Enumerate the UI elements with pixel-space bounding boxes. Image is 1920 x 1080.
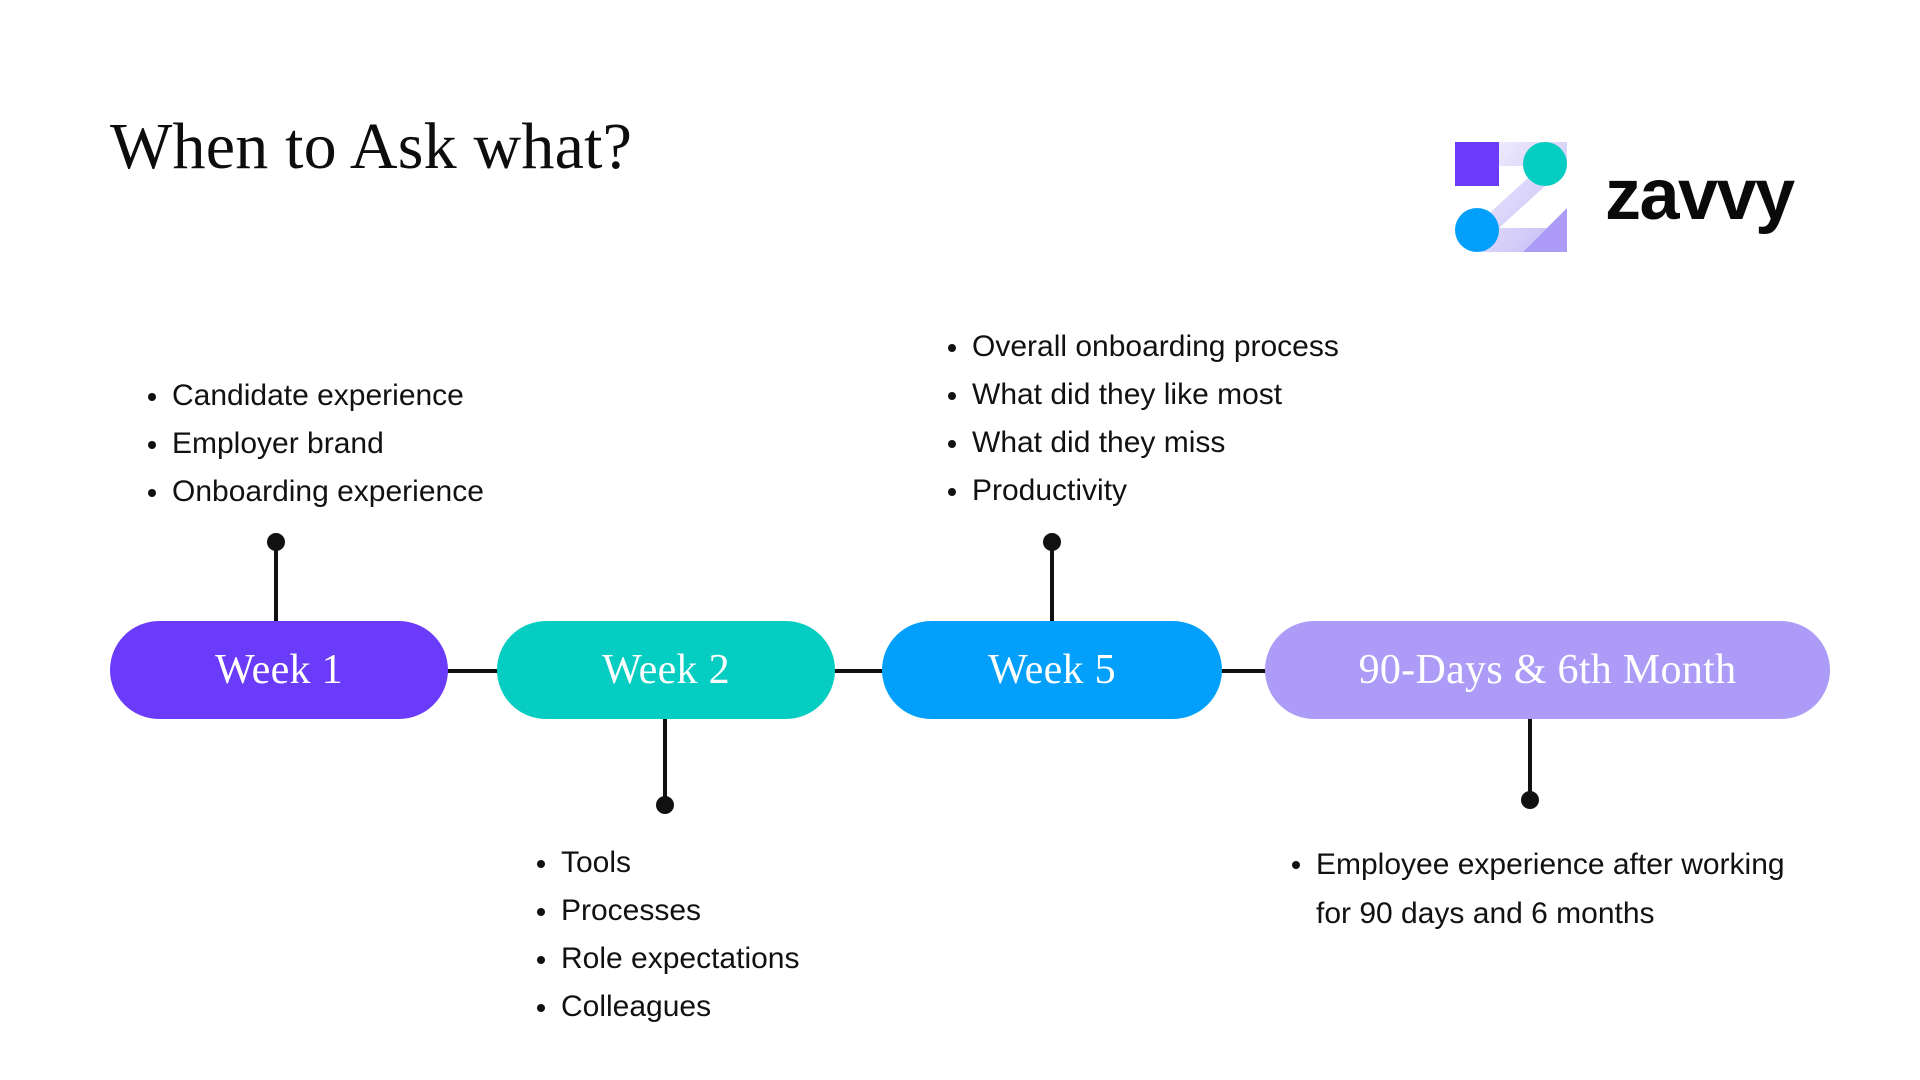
connector-week1-week2 xyxy=(446,669,499,673)
list-item: Candidate experience xyxy=(172,372,484,420)
dot-week-1 xyxy=(267,533,285,551)
dot-90-days xyxy=(1521,791,1539,809)
list-item: Employee experience after working for 90… xyxy=(1316,840,1786,938)
connector-week2-week5 xyxy=(833,669,884,673)
dot-week-5 xyxy=(1043,533,1061,551)
list-item: Role expectations xyxy=(561,935,799,983)
stem-week-2 xyxy=(663,717,667,805)
timeline-pill-week-1[interactable]: Week 1 xyxy=(110,621,448,719)
list-item: Overall onboarding process xyxy=(972,323,1339,371)
timeline-pill-label-week-5: Week 5 xyxy=(988,649,1116,691)
list-item: Processes xyxy=(561,887,799,935)
timeline-pill-label-week-1: Week 1 xyxy=(215,649,343,691)
timeline: Week 1 Week 2 Week 5 90-Days & 6th Month… xyxy=(0,0,1920,1080)
slide-canvas: When to Ask what? xyxy=(0,0,1920,1080)
list-item: What did they miss xyxy=(972,419,1339,467)
stem-week-1 xyxy=(274,541,278,623)
timeline-pill-label-week-2: Week 2 xyxy=(602,649,730,691)
bullet-list-week-2: ToolsProcessesRole expectationsColleague… xyxy=(525,839,799,1031)
list-item: Colleagues xyxy=(561,983,799,1031)
list-item: What did they like most xyxy=(972,371,1339,419)
list-item: Tools xyxy=(561,839,799,887)
bullet-list-week-5: Overall onboarding processWhat did they … xyxy=(936,323,1339,515)
bullet-list-week-1: Candidate experienceEmployer brandOnboar… xyxy=(136,372,484,516)
dot-week-2 xyxy=(656,796,674,814)
list-item: Employer brand xyxy=(172,420,484,468)
list-item: Onboarding experience xyxy=(172,468,484,516)
list-item: Productivity xyxy=(972,467,1339,515)
timeline-pill-week-2[interactable]: Week 2 xyxy=(497,621,835,719)
bullet-list-90-days: Employee experience after working for 90… xyxy=(1280,840,1786,938)
timeline-pill-90-days[interactable]: 90-Days & 6th Month xyxy=(1265,621,1830,719)
stem-week-5 xyxy=(1050,541,1054,623)
connector-week5-90days xyxy=(1220,669,1267,673)
timeline-pill-label-90-days: 90-Days & 6th Month xyxy=(1359,649,1737,691)
timeline-pill-week-5[interactable]: Week 5 xyxy=(882,621,1222,719)
